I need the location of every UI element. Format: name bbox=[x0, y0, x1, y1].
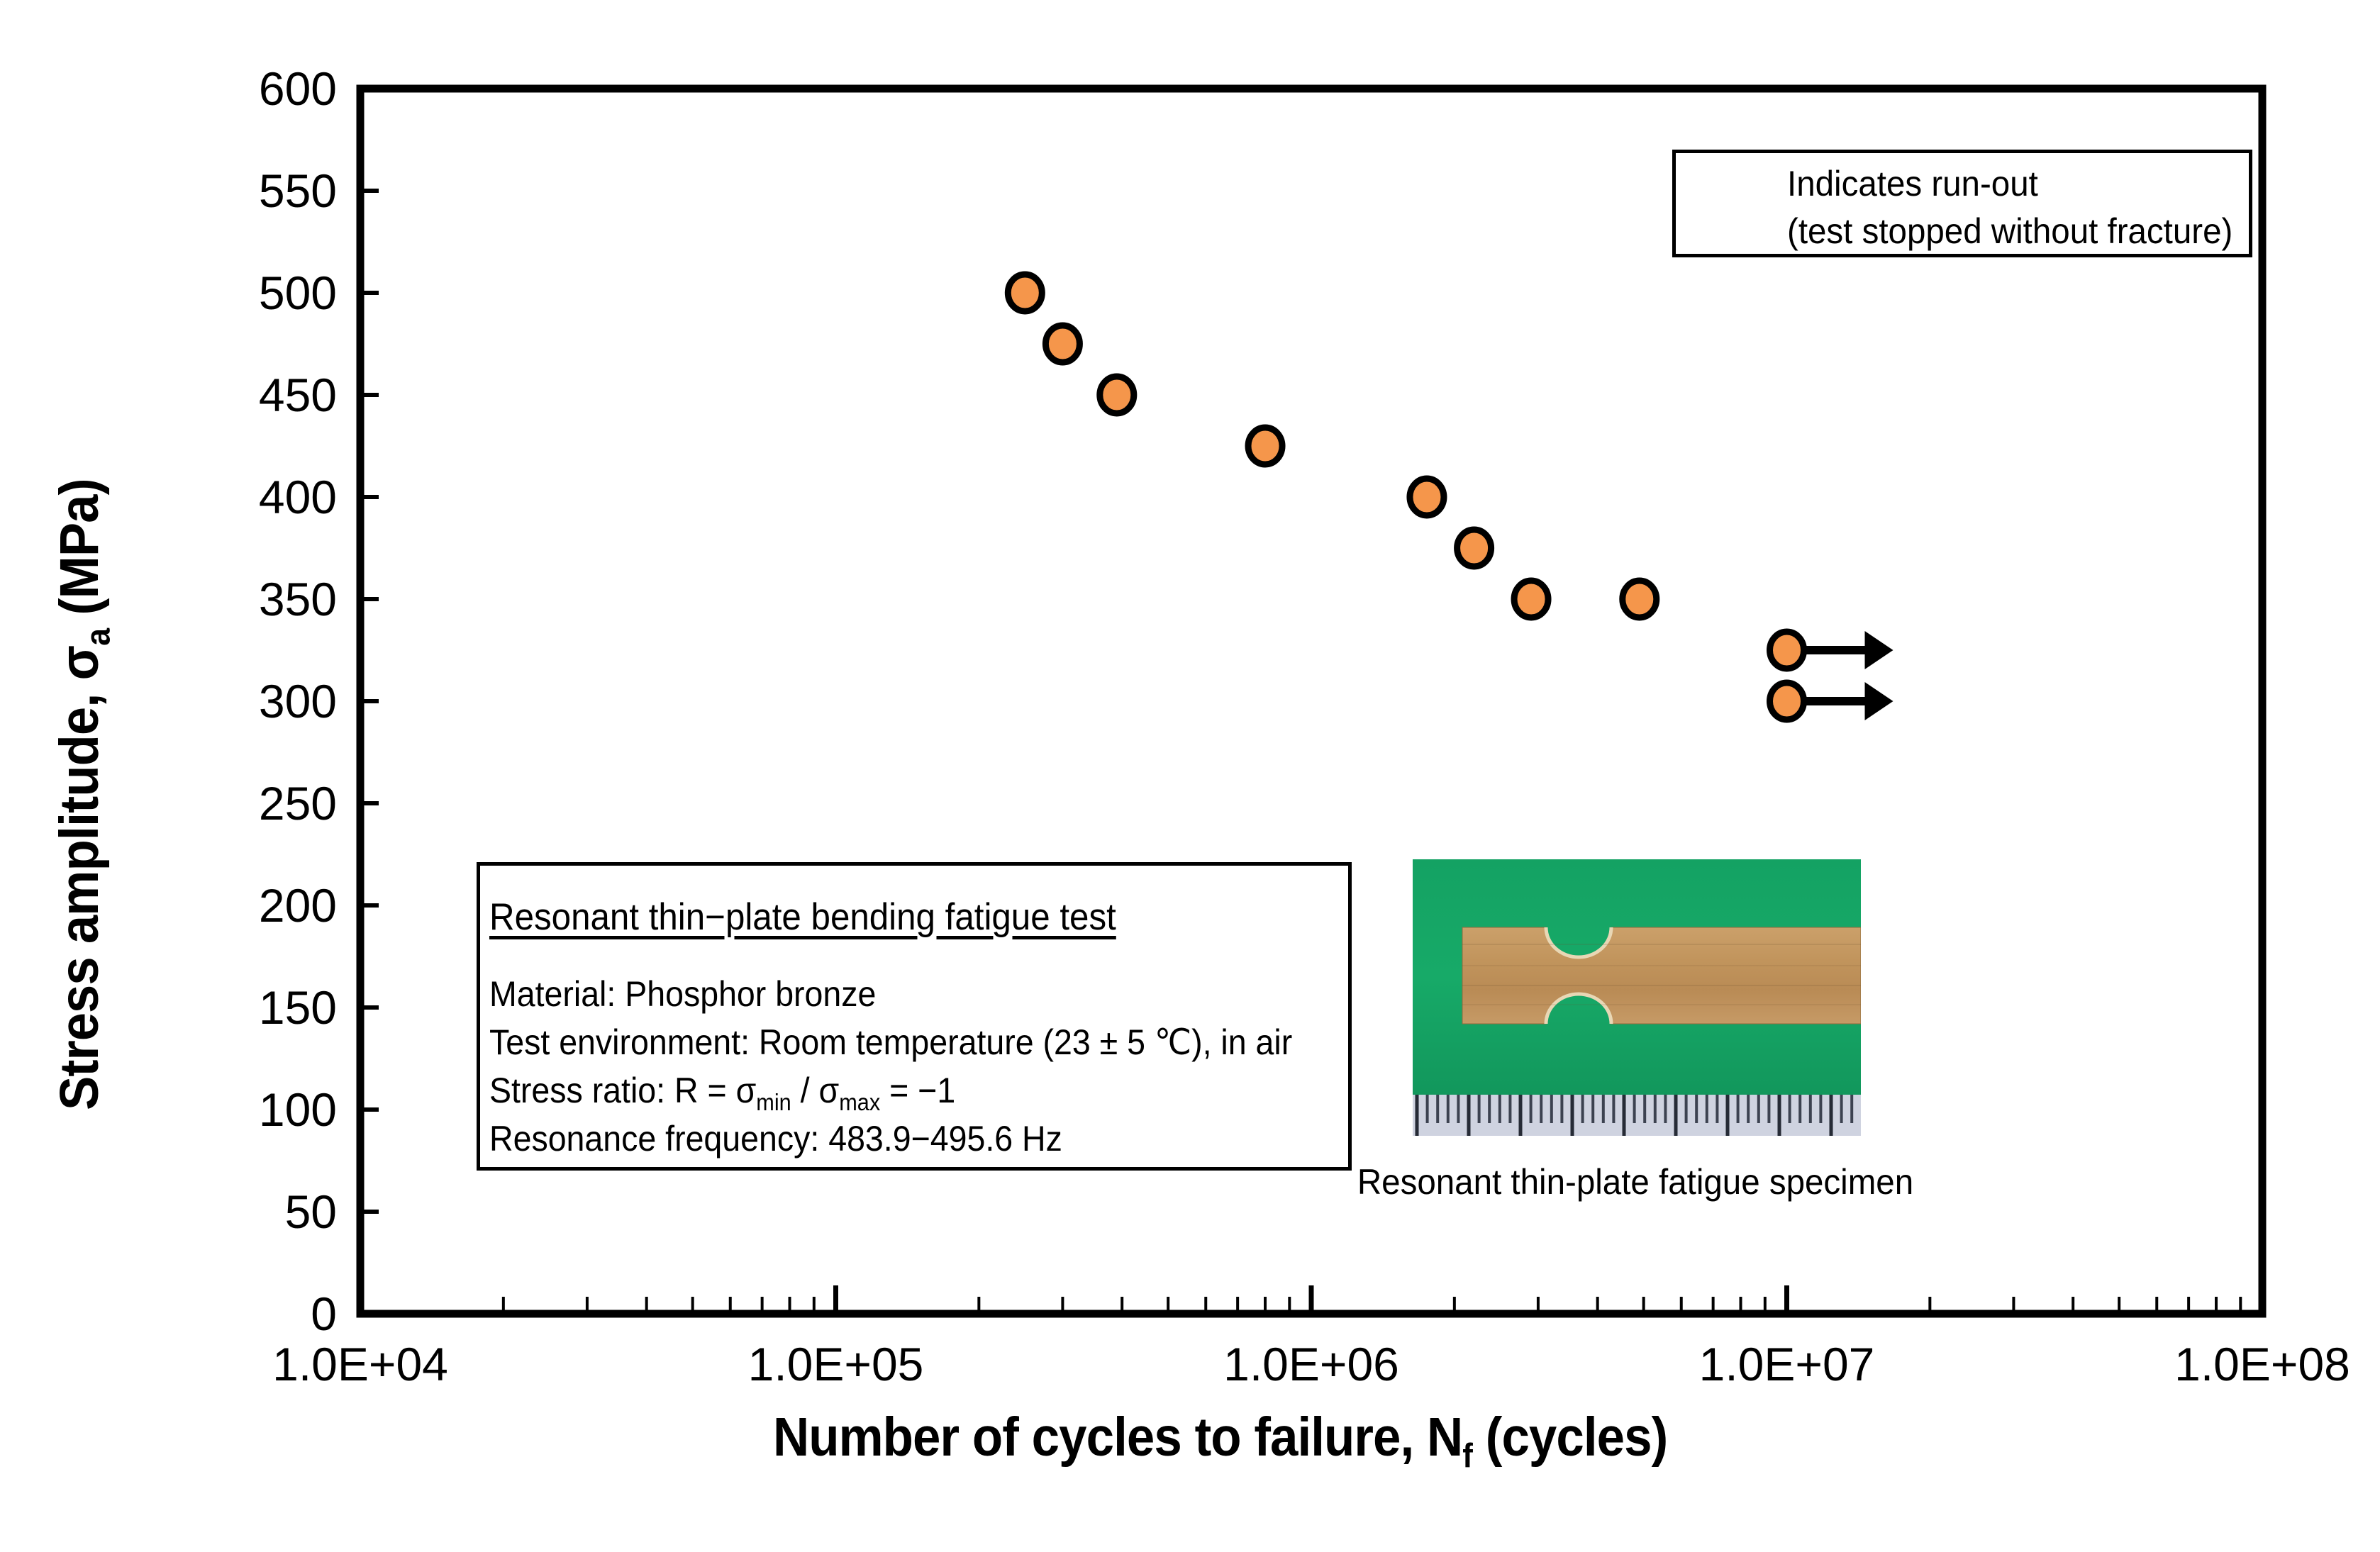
stress-ratio-value: = −1 bbox=[880, 1071, 955, 1110]
y-tick-label: 600 bbox=[209, 62, 337, 116]
x-tick-label: 1.0E+04 bbox=[218, 1337, 502, 1391]
y-tick-label: 150 bbox=[209, 981, 337, 1034]
y-axis-title-sigma: σ bbox=[49, 646, 110, 681]
y-tick-label: 0 bbox=[209, 1287, 337, 1341]
stress-ratio-line: Stress ratio: R = σmin / σmax = −1 bbox=[489, 1070, 955, 1116]
y-tick-label: 100 bbox=[209, 1083, 337, 1137]
data-point-marker bbox=[1045, 325, 1079, 362]
y-tick-label: 450 bbox=[209, 368, 337, 422]
x-axis-title-unit: (cycles) bbox=[1472, 1407, 1667, 1468]
stress-ratio-sigma-max: σ bbox=[819, 1071, 840, 1110]
y-tick-label: 250 bbox=[209, 776, 337, 830]
y-tick-label: 300 bbox=[209, 674, 337, 728]
x-axis-title-main: Number of cycles to failure, N bbox=[773, 1407, 1462, 1468]
stress-ratio-max-subscript: max bbox=[839, 1089, 880, 1115]
data-point-marker bbox=[1410, 479, 1444, 515]
data-point-marker bbox=[1008, 274, 1042, 311]
stress-ratio-slash: / bbox=[791, 1071, 819, 1110]
data-point-marker bbox=[1514, 581, 1548, 618]
legend-line-1: Indicates run-out bbox=[1787, 163, 2038, 204]
data-point-marker bbox=[1770, 683, 1804, 720]
x-tick-label: 1.0E+05 bbox=[694, 1337, 978, 1391]
data-point-marker bbox=[1623, 581, 1657, 618]
y-axis-title-main: Stress amplitude, bbox=[49, 680, 110, 1110]
y-tick-label: 500 bbox=[209, 266, 337, 320]
x-axis-title-subscript: f bbox=[1462, 1437, 1472, 1475]
stress-ratio-prefix: Stress ratio: R = bbox=[489, 1071, 736, 1110]
frequency-line: Resonance frequency: 483.9−495.6 Hz bbox=[489, 1118, 1062, 1159]
data-point-marker bbox=[1770, 632, 1804, 669]
y-tick-label: 550 bbox=[209, 164, 337, 218]
environment-line: Test environment: Room temperature (23 ±… bbox=[489, 1022, 1292, 1063]
specimen-plate bbox=[1462, 927, 1861, 1024]
data-point-marker bbox=[1248, 428, 1282, 464]
test-conditions-title: Resonant thin−plate bending fatigue test bbox=[489, 895, 1116, 939]
data-point-marker bbox=[1100, 376, 1134, 413]
x-axis-title: Number of cycles to failure, Nf (cycles) bbox=[773, 1406, 1667, 1475]
stress-ratio-min-subscript: min bbox=[756, 1089, 791, 1115]
legend-line-2: (test stopped without fracture) bbox=[1787, 211, 2232, 252]
y-tick-label: 200 bbox=[209, 878, 337, 932]
y-tick-label: 400 bbox=[209, 470, 337, 524]
fatigue-chart-figure: 050100150200250300350400450500550600 1.0… bbox=[0, 0, 2380, 1552]
specimen-photo bbox=[1413, 859, 1861, 1136]
stress-ratio-sigma-min: σ bbox=[736, 1071, 757, 1110]
specimen-photo-svg bbox=[1413, 859, 1861, 1136]
y-tick-label: 350 bbox=[209, 572, 337, 626]
x-tick-label: 1.0E+07 bbox=[1645, 1337, 1929, 1391]
x-tick-label: 1.0E+06 bbox=[1169, 1337, 1453, 1391]
material-line: Material: Phosphor bronze bbox=[489, 973, 876, 1015]
y-axis-title-unit: (MPa) bbox=[49, 479, 110, 629]
y-tick-label: 50 bbox=[209, 1185, 337, 1239]
specimen-caption: Resonant thin-plate fatigue specimen bbox=[1357, 1161, 1913, 1202]
y-axis-title-subscript: a bbox=[79, 629, 117, 646]
x-tick-label: 1.0E+08 bbox=[2120, 1337, 2380, 1391]
y-axis-title: Stress amplitude, σa (MPa) bbox=[48, 479, 118, 1110]
data-point-marker bbox=[1457, 530, 1491, 566]
